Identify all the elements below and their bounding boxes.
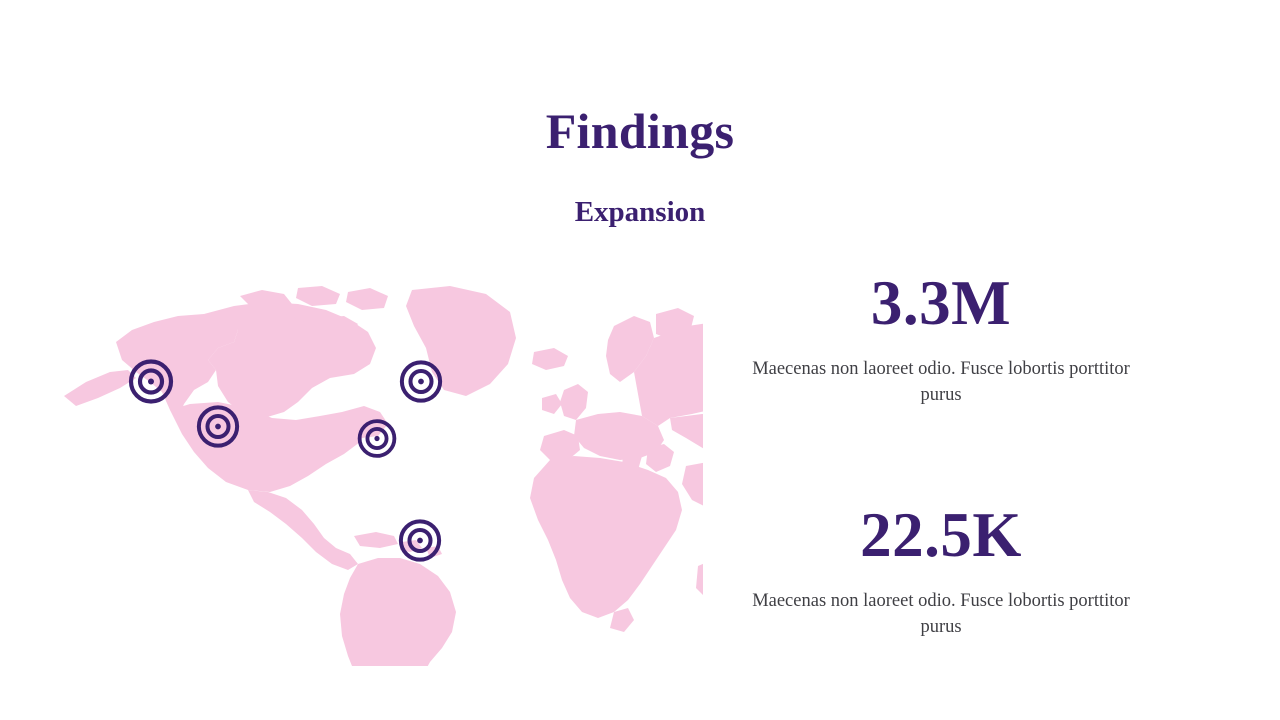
target-marker-icon <box>357 419 397 459</box>
stat-block: 3.3M Maecenas non laoreet odio. Fusce lo… <box>741 272 1141 408</box>
target-marker-icon <box>399 360 443 404</box>
page-subtitle: Expansion <box>0 158 1280 229</box>
stat-block: 22.5K Maecenas non laoreet odio. Fusce l… <box>741 504 1141 640</box>
map-marker-layer <box>58 286 703 666</box>
map-marker[interactable] <box>399 360 443 409</box>
stat-value: 22.5K <box>741 504 1141 567</box>
stat-caption: Maecenas non laoreet odio. Fusce loborti… <box>741 567 1141 640</box>
map-marker[interactable] <box>128 359 174 410</box>
map-marker[interactable] <box>196 405 240 454</box>
stat-value: 3.3M <box>741 272 1141 335</box>
heading-block: Findings Expansion <box>0 104 1280 229</box>
statistics-column: 3.3M Maecenas non laoreet odio. Fusce lo… <box>741 272 1141 640</box>
target-marker-icon <box>128 359 174 405</box>
target-marker-icon <box>196 405 240 449</box>
map-marker[interactable] <box>357 419 397 464</box>
slide-canvas: Findings Expansion <box>0 0 1280 720</box>
stat-caption: Maecenas non laoreet odio. Fusce loborti… <box>741 335 1141 408</box>
map-marker[interactable] <box>398 519 442 568</box>
world-map-illustration <box>58 286 703 666</box>
page-title: Findings <box>0 104 1280 158</box>
target-marker-icon <box>398 519 442 563</box>
